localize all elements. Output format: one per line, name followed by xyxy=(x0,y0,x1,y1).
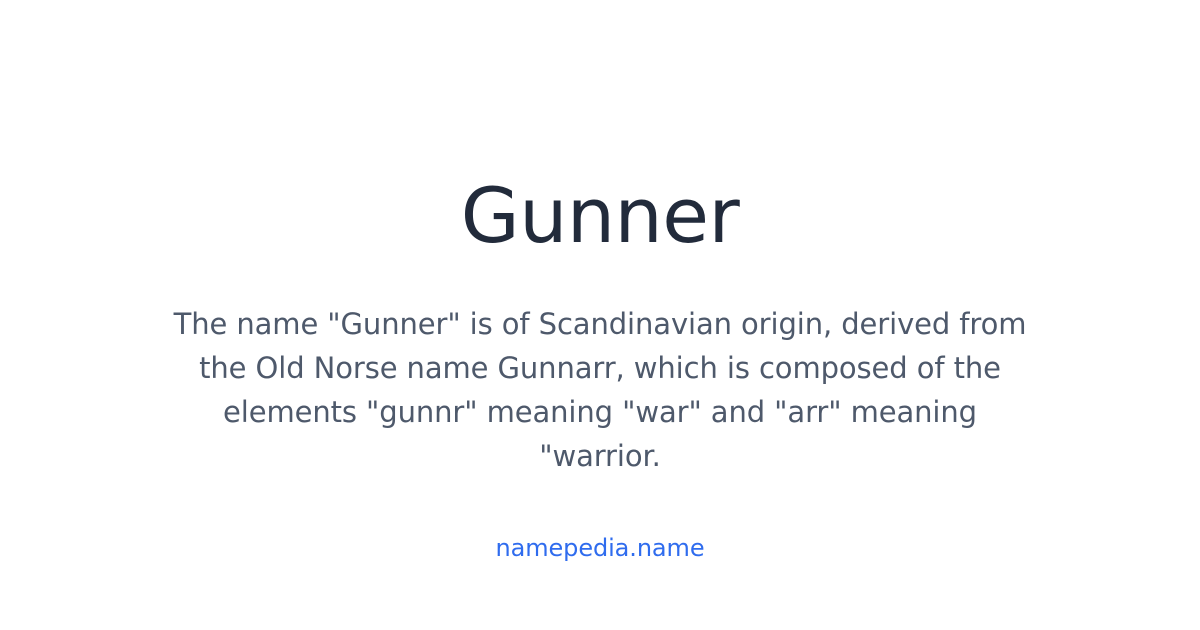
site-link-container: namepedia.name xyxy=(0,534,1200,562)
card-content: Gunner The name "Gunner" is of Scandinav… xyxy=(0,0,1200,630)
name-description: The name "Gunner" is of Scandinavian ori… xyxy=(100,302,1100,478)
name-meaning-card: Gunner The name "Gunner" is of Scandinav… xyxy=(0,0,1200,630)
site-link[interactable]: namepedia.name xyxy=(496,534,705,562)
page-title: Gunner xyxy=(0,178,1200,254)
